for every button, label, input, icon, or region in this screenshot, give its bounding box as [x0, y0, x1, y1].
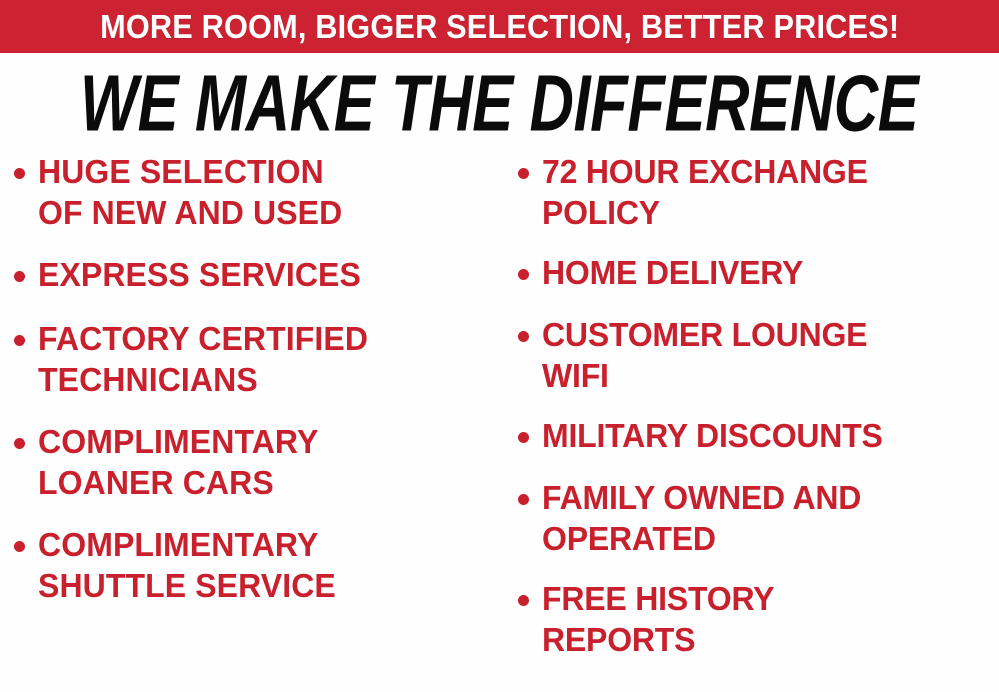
list-item: HUGE SELECTION OF NEW AND USED: [14, 152, 504, 230]
list-item: HOME DELIVERY: [518, 253, 999, 292]
promo-poster: MORE ROOM, BIGGER SELECTION, BETTER PRIC…: [0, 0, 999, 692]
list-item-label: FAMILY OWNED AND OPERATED: [542, 478, 999, 559]
list-item-label: HOME DELIVERY: [542, 253, 999, 294]
benefits-column-right: 72 HOUR EXCHANGE POLICY HOME DELIVERY CU…: [518, 152, 999, 680]
list-item-label: 72 HOUR EXCHANGE POLICY: [542, 152, 999, 233]
list-item: EXPRESS SERVICES: [14, 255, 504, 294]
list-item-label: EXPRESS SERVICES: [38, 255, 504, 296]
list-item-label: HUGE SELECTION OF NEW AND USED: [38, 152, 504, 233]
list-item: FREE HISTORY REPORTS: [518, 579, 999, 657]
list-item: FACTORY CERTIFIED TECHNICIANS: [14, 319, 504, 397]
headline-container: WE MAKE THE DIFFERENCE: [0, 62, 999, 144]
bullet-dot-icon: [14, 271, 25, 282]
bullet-dot-icon: [518, 432, 529, 443]
bullet-dot-icon: [518, 331, 529, 342]
bullet-dot-icon: [518, 494, 529, 505]
bullet-dot-icon: [14, 168, 25, 179]
list-item-label: COMPLIMENTARY LOANER CARS: [38, 422, 504, 503]
list-item: MILITARY DISCOUNTS: [518, 416, 999, 455]
bullet-dot-icon: [14, 541, 25, 552]
list-item-label: FREE HISTORY REPORTS: [542, 579, 999, 660]
bullet-dot-icon: [14, 335, 25, 346]
list-item-label: MILITARY DISCOUNTS: [542, 416, 999, 457]
list-item-label: COMPLIMENTARY SHUTTLE SERVICE: [38, 525, 504, 606]
bullet-dot-icon: [518, 269, 529, 280]
list-item: CUSTOMER LOUNGE WIFI: [518, 315, 999, 393]
bullet-dot-icon: [518, 168, 529, 179]
bullet-dot-icon: [518, 595, 529, 606]
bullet-dot-icon: [14, 438, 25, 449]
benefits-column-left: HUGE SELECTION OF NEW AND USED EXPRESS S…: [14, 152, 504, 628]
list-item: COMPLIMENTARY SHUTTLE SERVICE: [14, 525, 504, 603]
list-item-label: CUSTOMER LOUNGE WIFI: [542, 315, 999, 396]
page-title: WE MAKE THE DIFFERENCE: [80, 63, 918, 143]
promo-banner: MORE ROOM, BIGGER SELECTION, BETTER PRIC…: [0, 0, 999, 53]
promo-banner-text: MORE ROOM, BIGGER SELECTION, BETTER PRIC…: [100, 10, 899, 43]
list-item-label: FACTORY CERTIFIED TECHNICIANS: [38, 319, 504, 400]
list-item: COMPLIMENTARY LOANER CARS: [14, 422, 504, 500]
list-item: FAMILY OWNED AND OPERATED: [518, 478, 999, 556]
list-item: 72 HOUR EXCHANGE POLICY: [518, 152, 999, 230]
benefits-columns: HUGE SELECTION OF NEW AND USED EXPRESS S…: [0, 152, 999, 692]
